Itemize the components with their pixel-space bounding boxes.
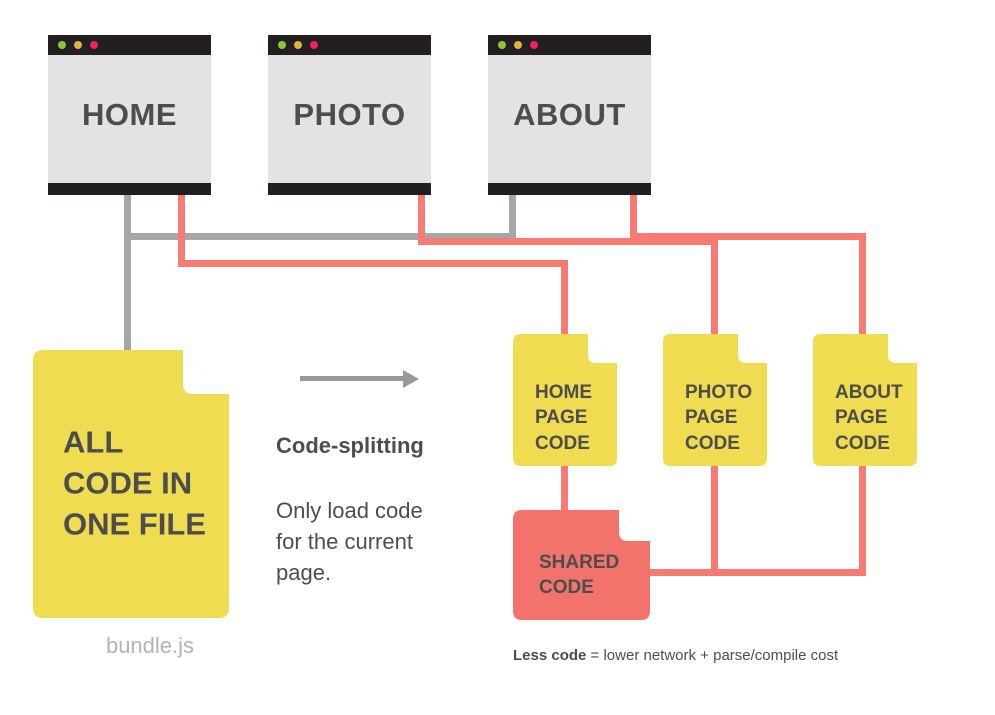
browser-footerbar bbox=[48, 183, 211, 195]
file-home-page-code[interactable]: HOMEPAGECODE bbox=[513, 334, 617, 466]
red-dot-icon bbox=[530, 41, 538, 49]
arrow-right-head-icon bbox=[403, 370, 419, 388]
green-dot-icon bbox=[498, 41, 506, 49]
middle-heading: Code-splitting bbox=[276, 433, 424, 459]
browser-titlebar bbox=[268, 35, 431, 55]
file-label: HOMEPAGECODE bbox=[535, 380, 609, 456]
browser-titlebar bbox=[488, 35, 651, 55]
browser-window-photo[interactable]: PHOTO bbox=[268, 35, 431, 195]
connector-red-home-run bbox=[178, 260, 568, 267]
file-about-page-code[interactable]: ABOUTPAGECODE bbox=[813, 334, 917, 466]
footnote-bold: Less code bbox=[513, 647, 586, 664]
red-dot-icon bbox=[90, 41, 98, 49]
browser-title-label: ABOUT bbox=[488, 97, 651, 133]
connector-red-about-run bbox=[630, 233, 866, 240]
connector-gray-bundle-drop bbox=[124, 233, 131, 351]
file-label: ABOUTPAGECODE bbox=[835, 380, 909, 456]
diagram-canvas: HOME PHOTO ABOUT bbox=[0, 0, 995, 715]
browser-titlebar bbox=[48, 35, 211, 55]
connector-red-shared-home bbox=[561, 465, 568, 513]
file-photo-page-code[interactable]: PHOTOPAGECODE bbox=[663, 334, 767, 466]
footnote-text: Less code = lower network + parse/compil… bbox=[513, 647, 838, 664]
connector-red-shared-bus bbox=[646, 569, 866, 576]
browser-window-about[interactable]: ABOUT bbox=[488, 35, 651, 195]
connector-red-about-drop bbox=[859, 233, 866, 335]
red-dot-icon bbox=[310, 41, 318, 49]
connector-red-shared-about bbox=[859, 465, 866, 576]
file-all-code-in-one[interactable]: ALLCODE INONE FILE bbox=[33, 350, 229, 618]
connector-red-home-drop bbox=[561, 260, 568, 335]
file-label: ALLCODE INONE FILE bbox=[63, 423, 219, 546]
yellow-dot-icon bbox=[294, 41, 302, 49]
connector-red-photo-drop bbox=[711, 238, 718, 335]
green-dot-icon bbox=[58, 41, 66, 49]
file-label: SHAREDCODE bbox=[539, 550, 642, 601]
browser-title-label: HOME bbox=[48, 97, 211, 133]
connector-gray-about-stub bbox=[509, 195, 516, 240]
connector-red-shared-photo bbox=[711, 465, 718, 576]
browser-window-home[interactable]: HOME bbox=[48, 35, 211, 195]
file-label: PHOTOPAGECODE bbox=[685, 380, 759, 456]
browser-footerbar bbox=[488, 183, 651, 195]
yellow-dot-icon bbox=[514, 41, 522, 49]
middle-body-text: Only load codefor the currentpage. bbox=[276, 495, 486, 589]
connector-red-home-stub bbox=[178, 195, 185, 267]
yellow-dot-icon bbox=[74, 41, 82, 49]
bundle-caption: bundle.js bbox=[70, 633, 230, 659]
file-shared-code[interactable]: SHAREDCODE bbox=[513, 510, 650, 620]
browser-footerbar bbox=[268, 183, 431, 195]
green-dot-icon bbox=[278, 41, 286, 49]
footnote-rest: = lower network + parse/compile cost bbox=[586, 647, 838, 664]
browser-title-label: PHOTO bbox=[268, 97, 431, 133]
arrow-right-icon bbox=[300, 376, 405, 381]
